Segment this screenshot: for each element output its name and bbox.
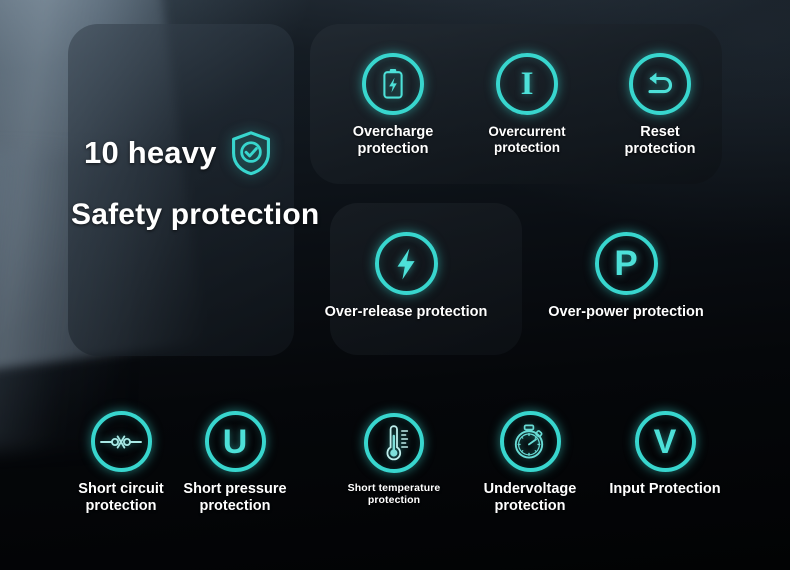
feature-undervoltage: Undervoltage protection <box>475 411 585 515</box>
headline-block: 10 heavy Safety protection <box>68 130 368 232</box>
headline-subtitle: Safety protection <box>68 198 368 232</box>
feature-label: Reset protection <box>605 124 715 158</box>
feature-label: Short circuit protection <box>78 481 163 515</box>
shield-check-icon <box>229 130 273 176</box>
product-feature-graphic: 10 heavy Safety protection Overcharge pr… <box>0 0 790 570</box>
lightning-bolt-icon <box>375 232 438 295</box>
feature-short-circuit: Short circuit protection <box>71 411 171 515</box>
feature-overcharge: Overcharge protection <box>343 53 443 158</box>
feature-label: Over-power protection <box>548 304 704 321</box>
short-circuit-icon <box>91 411 152 472</box>
feature-label: Short temperature protection <box>348 482 441 506</box>
feature-over-power: P Over-power protection <box>535 232 717 321</box>
feature-label: Input Protection <box>609 481 720 498</box>
feature-input-protection: V Input Protection <box>600 411 730 498</box>
feature-label: Overcharge protection <box>353 124 434 158</box>
feature-short-temperature: Short temperature protection <box>342 413 446 506</box>
letter-u-icon: U <box>205 411 266 472</box>
letter-glyph: V <box>654 425 677 459</box>
letter-i-icon: I <box>496 53 558 115</box>
undo-arrow-icon <box>629 53 691 115</box>
battery-bolt-icon <box>362 53 424 115</box>
thermometer-icon <box>364 413 424 473</box>
feature-label: Over-release protection <box>325 304 488 321</box>
feature-label: Undervoltage protection <box>484 481 577 515</box>
feature-reset: Reset protection <box>605 53 715 158</box>
letter-glyph: I <box>521 68 534 101</box>
feature-short-pressure: U Short pressure protection <box>180 411 290 515</box>
headline-count: 10 heavy <box>84 135 217 171</box>
feature-label: Short pressure protection <box>183 481 286 515</box>
headline-row: 10 heavy <box>68 130 368 176</box>
stopwatch-icon <box>500 411 561 472</box>
letter-v-icon: V <box>635 411 696 472</box>
feature-over-release: Over-release protection <box>315 232 497 321</box>
letter-p-icon: P <box>595 232 658 295</box>
feature-label: Overcurrent protection <box>488 124 565 155</box>
letter-glyph: U <box>223 425 248 459</box>
letter-glyph: P <box>614 246 637 281</box>
feature-overcurrent: I Overcurrent protection <box>478 53 576 155</box>
